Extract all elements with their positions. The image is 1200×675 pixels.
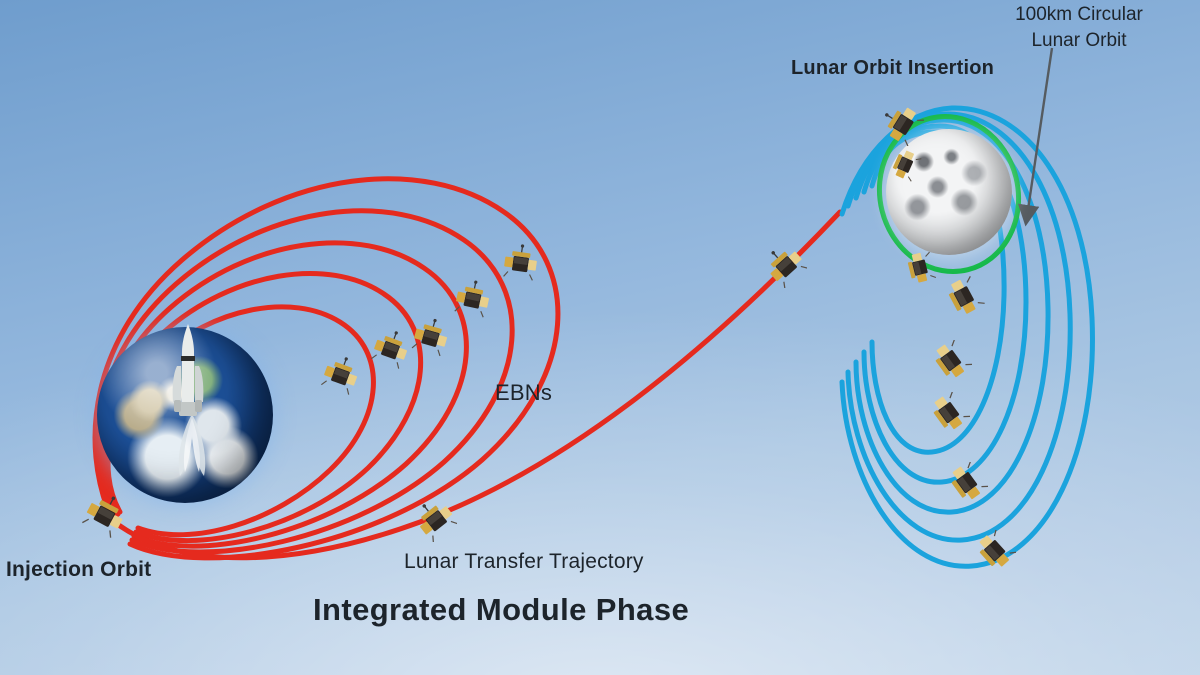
label-lunar-orbit-insertion: Lunar Orbit Insertion <box>791 57 994 80</box>
spacecraft-lunar-bound-2 <box>902 250 938 286</box>
spacecraft-lunar-bound-3 <box>943 276 985 318</box>
label-lunar-transfer-trajectory: Lunar Transfer Trajectory <box>404 550 644 574</box>
spacecraft-lunar-bound-1 <box>888 148 922 182</box>
rocket-body <box>173 324 204 416</box>
spacecraft-ebn-5 <box>500 244 540 284</box>
spacecraft-lunar-bound-7 <box>974 530 1016 572</box>
spacecraft-ebn-2 <box>370 330 410 370</box>
page-title: Integrated Module Phase <box>313 592 689 628</box>
spacecraft-lunar-bound-6 <box>946 462 988 504</box>
label-circular-lunar-orbit: 100km Circular Lunar Orbit <box>984 2 1174 53</box>
spacecraft-lunar-bound-5 <box>928 392 970 434</box>
diagram-canvas: Injection Orbit EBNs Lunar Transfer Traj… <box>0 0 1200 675</box>
spacecraft-ebn-4 <box>452 280 492 320</box>
rocket-plume <box>179 414 206 476</box>
launch-vehicle <box>160 318 224 478</box>
label-circular-lunar-orbit-line2: Lunar Orbit <box>984 28 1174 54</box>
spacecraft-lunar-orbit-insertion <box>882 104 924 146</box>
label-circular-lunar-orbit-line1: 100km Circular <box>984 2 1174 28</box>
label-ebns: EBNs <box>495 380 552 406</box>
spacecraft-injection-orbit <box>82 494 126 538</box>
spacecraft-transfer-2 <box>765 246 807 288</box>
spacecraft-lunar-bound-4 <box>930 340 972 382</box>
spacecraft-ebn-1 <box>320 356 360 396</box>
spacecraft-transfer-1 <box>415 500 457 542</box>
spacecraft-ebn-3 <box>410 318 450 358</box>
label-injection-orbit: Injection Orbit <box>6 558 151 582</box>
